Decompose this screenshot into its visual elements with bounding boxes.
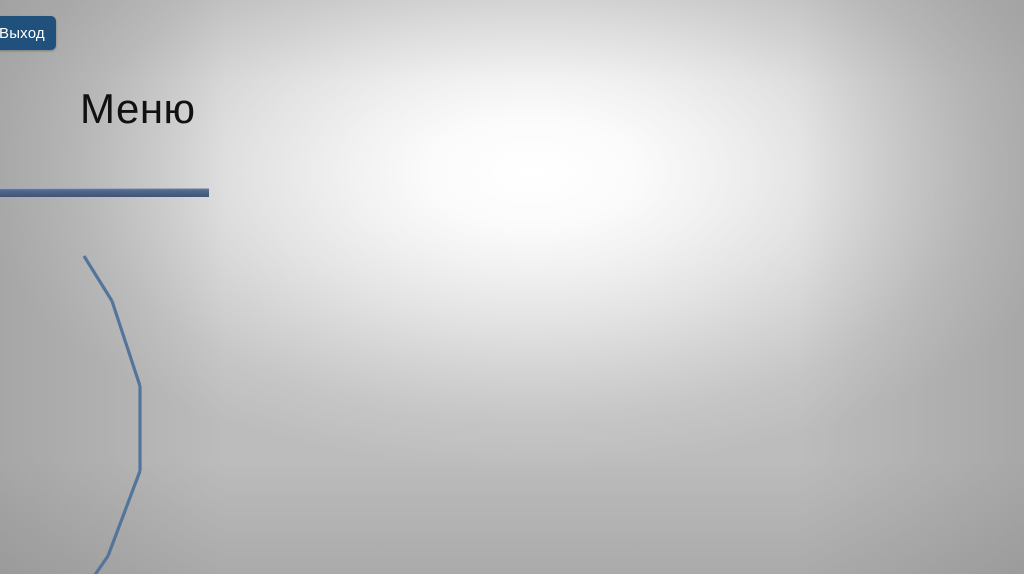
nav-button-group: Меню Выход bbox=[0, 16, 932, 50]
connector-chain bbox=[0, 93, 1024, 574]
exit-button[interactable]: Выход bbox=[0, 16, 56, 50]
connector-segment-1-2 bbox=[112, 301, 140, 386]
connector-segment-3-4 bbox=[108, 471, 140, 556]
title-underline-rule bbox=[0, 188, 209, 197]
connector-segment-bottom bbox=[74, 556, 108, 574]
connector-segment-top bbox=[84, 256, 112, 301]
slide-canvas: Меню Выход Меню Математика Русский язык bbox=[0, 0, 1024, 574]
page-title: Меню bbox=[80, 84, 1024, 134]
